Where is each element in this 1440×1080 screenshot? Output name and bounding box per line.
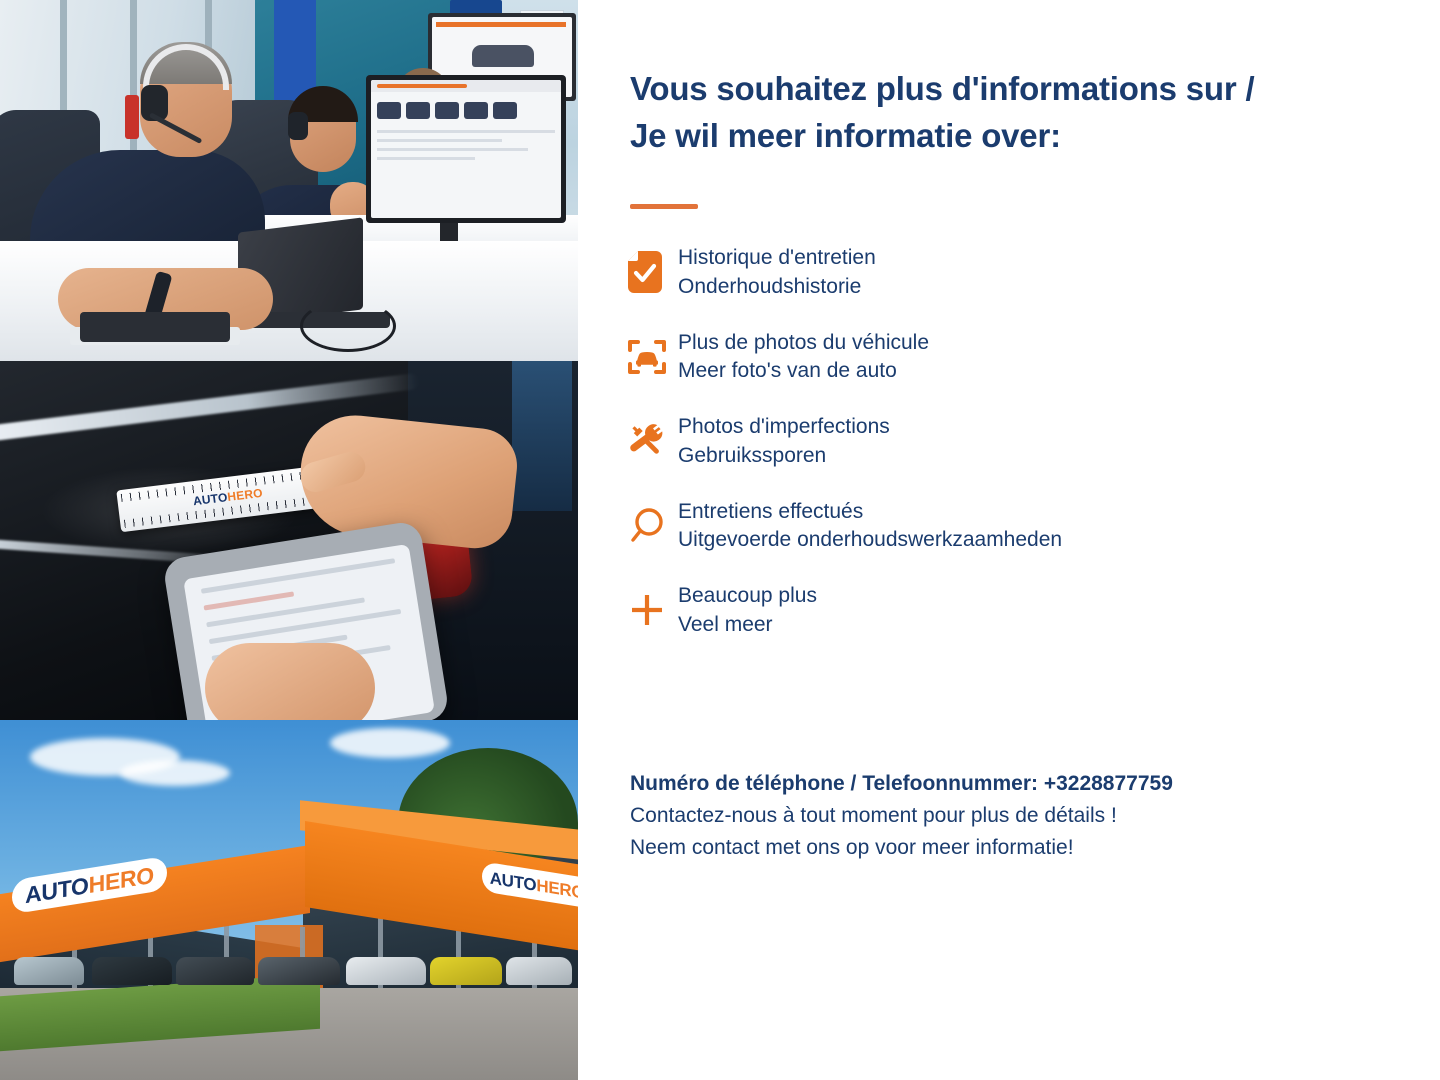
feature-list: Historique d'entretien Onderhoudshistori… bbox=[628, 243, 1268, 666]
blue-light bbox=[512, 361, 572, 511]
title-line-nl: Je wil meer informatie over: bbox=[630, 113, 1410, 160]
foreground-monitor bbox=[366, 75, 566, 223]
title-line-fr: Vous souhaitez plus d'informations sur / bbox=[630, 66, 1410, 113]
showroom-car bbox=[346, 957, 426, 985]
list-item-text: Entretiens effectués Uitgevoerde onderho… bbox=[678, 497, 1062, 556]
feature-label-fr: Photos d'imperfections bbox=[678, 413, 890, 442]
ruler-brand-hero: HERO bbox=[227, 486, 264, 504]
showroom-car bbox=[258, 957, 340, 985]
cable bbox=[300, 300, 396, 352]
promo-page: AUTOHERO bbox=[0, 0, 1440, 1080]
cloud bbox=[330, 728, 450, 758]
feature-label-nl: Meer foto's van de auto bbox=[678, 357, 929, 386]
feature-label-nl: Veel meer bbox=[678, 611, 817, 640]
showroom-car bbox=[506, 957, 572, 985]
inspector-hand-lower bbox=[205, 643, 375, 720]
list-item: Plus de photos du véhicule Meer foto's v… bbox=[628, 328, 1268, 387]
list-item-text: Photos d'imperfections Gebruikssporen bbox=[678, 412, 890, 471]
contact-cta-nl: Neem contact met ons op voor meer inform… bbox=[630, 832, 1420, 864]
showroom-car bbox=[14, 957, 84, 985]
call-center-agents-photo bbox=[0, 0, 578, 361]
vehicle-inspection-photo: AUTOHERO bbox=[0, 361, 578, 720]
page-title: Vous souhaitez plus d'informations sur /… bbox=[630, 66, 1410, 160]
autohero-showroom-photo: AUTOHERO AUTOHERO bbox=[0, 720, 578, 1080]
plus-icon bbox=[628, 581, 678, 639]
tablet-device bbox=[80, 312, 230, 342]
list-item: Historique d'entretien Onderhoudshistori… bbox=[628, 243, 1268, 302]
contact-block: Numéro de téléphone / Telefoonnummer: +3… bbox=[630, 768, 1420, 864]
document-check-icon bbox=[628, 243, 678, 301]
car-scan-icon bbox=[628, 328, 678, 386]
list-item: Beaucoup plus Veel meer bbox=[628, 581, 1268, 640]
title-divider bbox=[630, 204, 698, 209]
sign-brand-auto: AUTO bbox=[490, 868, 537, 894]
list-item-text: Beaucoup plus Veel meer bbox=[678, 581, 817, 640]
feature-label-fr: Entretiens effectués bbox=[678, 498, 1062, 527]
feature-label-fr: Plus de photos du véhicule bbox=[678, 329, 929, 358]
list-item-text: Historique d'entretien Onderhoudshistori… bbox=[678, 243, 876, 302]
magnifier-icon bbox=[628, 497, 678, 555]
info-panel: Vous souhaitez plus d'informations sur /… bbox=[578, 0, 1440, 1080]
fire-extinguisher bbox=[125, 95, 139, 139]
contact-cta-fr: Contactez-nous à tout moment pour plus d… bbox=[630, 800, 1420, 832]
phone-number-line[interactable]: Numéro de téléphone / Telefoonnummer: +3… bbox=[630, 768, 1420, 800]
ruler-brand-auto: AUTO bbox=[192, 490, 228, 508]
feature-label-fr: Beaucoup plus bbox=[678, 582, 817, 611]
showroom-car bbox=[92, 957, 172, 985]
tools-icon bbox=[628, 412, 678, 470]
showroom-car bbox=[430, 957, 502, 985]
sign-brand-hero: HERO bbox=[536, 875, 578, 902]
showroom-car bbox=[176, 957, 254, 985]
sign-brand-hero: HERO bbox=[89, 861, 154, 897]
list-item: Photos d'imperfections Gebruikssporen bbox=[628, 412, 1268, 471]
sign-brand-auto: AUTO bbox=[25, 872, 89, 908]
agent-2-headset bbox=[288, 112, 308, 140]
photo-column: AUTOHERO bbox=[0, 0, 578, 1080]
list-item-text: Plus de photos du véhicule Meer foto's v… bbox=[678, 328, 929, 387]
feature-label-fr: Historique d'entretien bbox=[678, 244, 876, 273]
feature-label-nl: Onderhoudshistorie bbox=[678, 273, 876, 302]
list-item: Entretiens effectués Uitgevoerde onderho… bbox=[628, 497, 1268, 556]
feature-label-nl: Gebruikssporen bbox=[678, 442, 890, 471]
feature-label-nl: Uitgevoerde onderhoudswerkzaamheden bbox=[678, 526, 1062, 555]
